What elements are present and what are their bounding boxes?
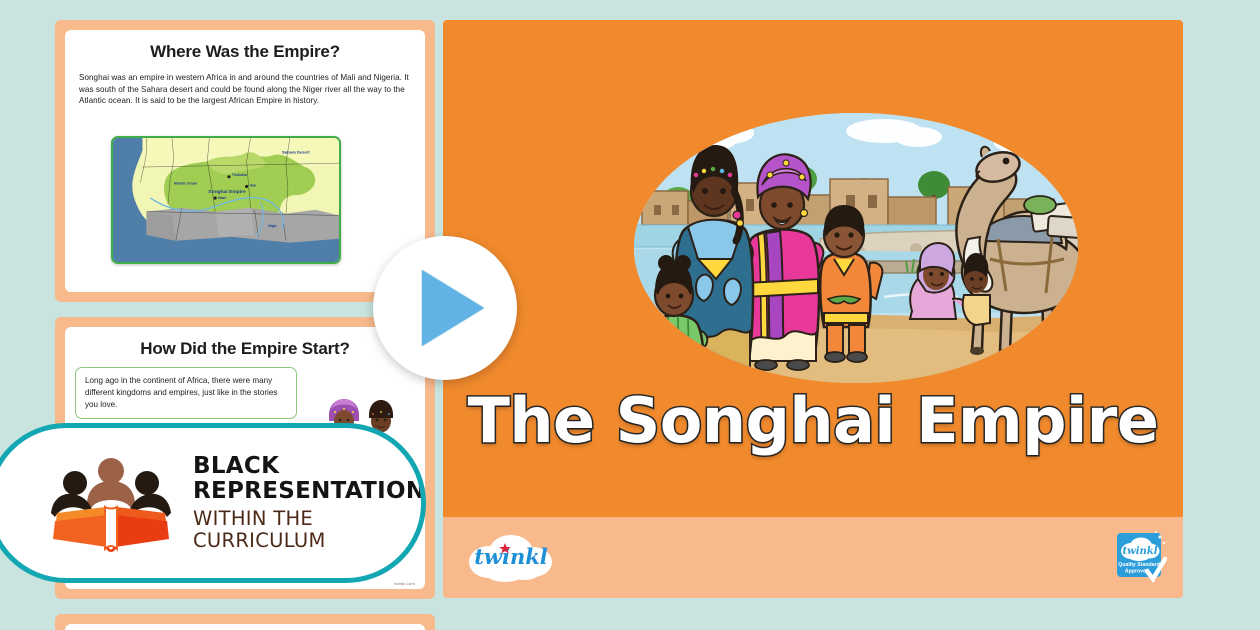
black-representation-badge: BLACK REPRESENTATION WITHIN THE CURRICUL…	[0, 423, 426, 583]
main-slide[interactable]: The Songhai Empire twinkl twinkl	[443, 20, 1183, 598]
songhai-village-illustration	[634, 113, 1078, 383]
slide-2-watermark: twinkl.com	[394, 581, 415, 586]
slide-2-body-text: Long ago in the continent of Africa, the…	[75, 367, 297, 419]
map-label-sahara: Sahara Desert	[282, 150, 310, 155]
map-label-city-2: Gao	[250, 183, 256, 187]
map-label-city-1: Timbuktu	[232, 173, 247, 177]
quality-standard-badge: twinkl Quality Standard Approved	[1115, 529, 1167, 587]
play-triangle-icon	[422, 270, 484, 346]
songhai-empire-map: Sahara Desert Songhai Empire Timbuktu Ga…	[111, 136, 341, 264]
quality-badge-line1: Quality Standard	[1118, 562, 1160, 568]
map-label-songhai: Songhai Empire	[208, 189, 246, 195]
slide-thumbnail-1[interactable]: Where Was the Empire? Songhai was an emp…	[55, 20, 435, 302]
slide-thumbnail-3-content	[65, 624, 425, 630]
map-label-city-3: Niani	[218, 196, 226, 200]
badge-line-within-the: WITHIN THE	[193, 508, 425, 530]
badge-line-representation: REPRESENTATION	[193, 479, 425, 504]
slide-1-title: Where Was the Empire?	[65, 42, 425, 62]
map-label-river: Niger	[268, 224, 277, 228]
badge-text-block: BLACK REPRESENTATION WITHIN THE CURRICUL…	[193, 454, 425, 551]
svg-text:twinkl: twinkl	[474, 544, 548, 569]
slide-thumbnail-3[interactable]	[55, 614, 435, 630]
open-book-people-logo	[47, 451, 175, 555]
badge-line-curriculum: CURRICULUM	[193, 530, 425, 552]
main-slide-title: The Songhai Empire	[443, 390, 1183, 452]
slide-2-title: How Did the Empire Start?	[65, 339, 425, 359]
slide-thumbnail-1-content: Where Was the Empire? Songhai was an emp…	[65, 30, 425, 292]
badge-line-black: BLACK	[193, 454, 425, 479]
svg-text:twinkl: twinkl	[1122, 546, 1157, 557]
slide-1-body-text: Songhai was an empire in western Africa …	[79, 72, 411, 107]
map-label-ocean: Atlantic Ocean	[174, 182, 197, 186]
play-button[interactable]	[373, 236, 517, 380]
twinkl-logo: twinkl	[463, 530, 559, 582]
